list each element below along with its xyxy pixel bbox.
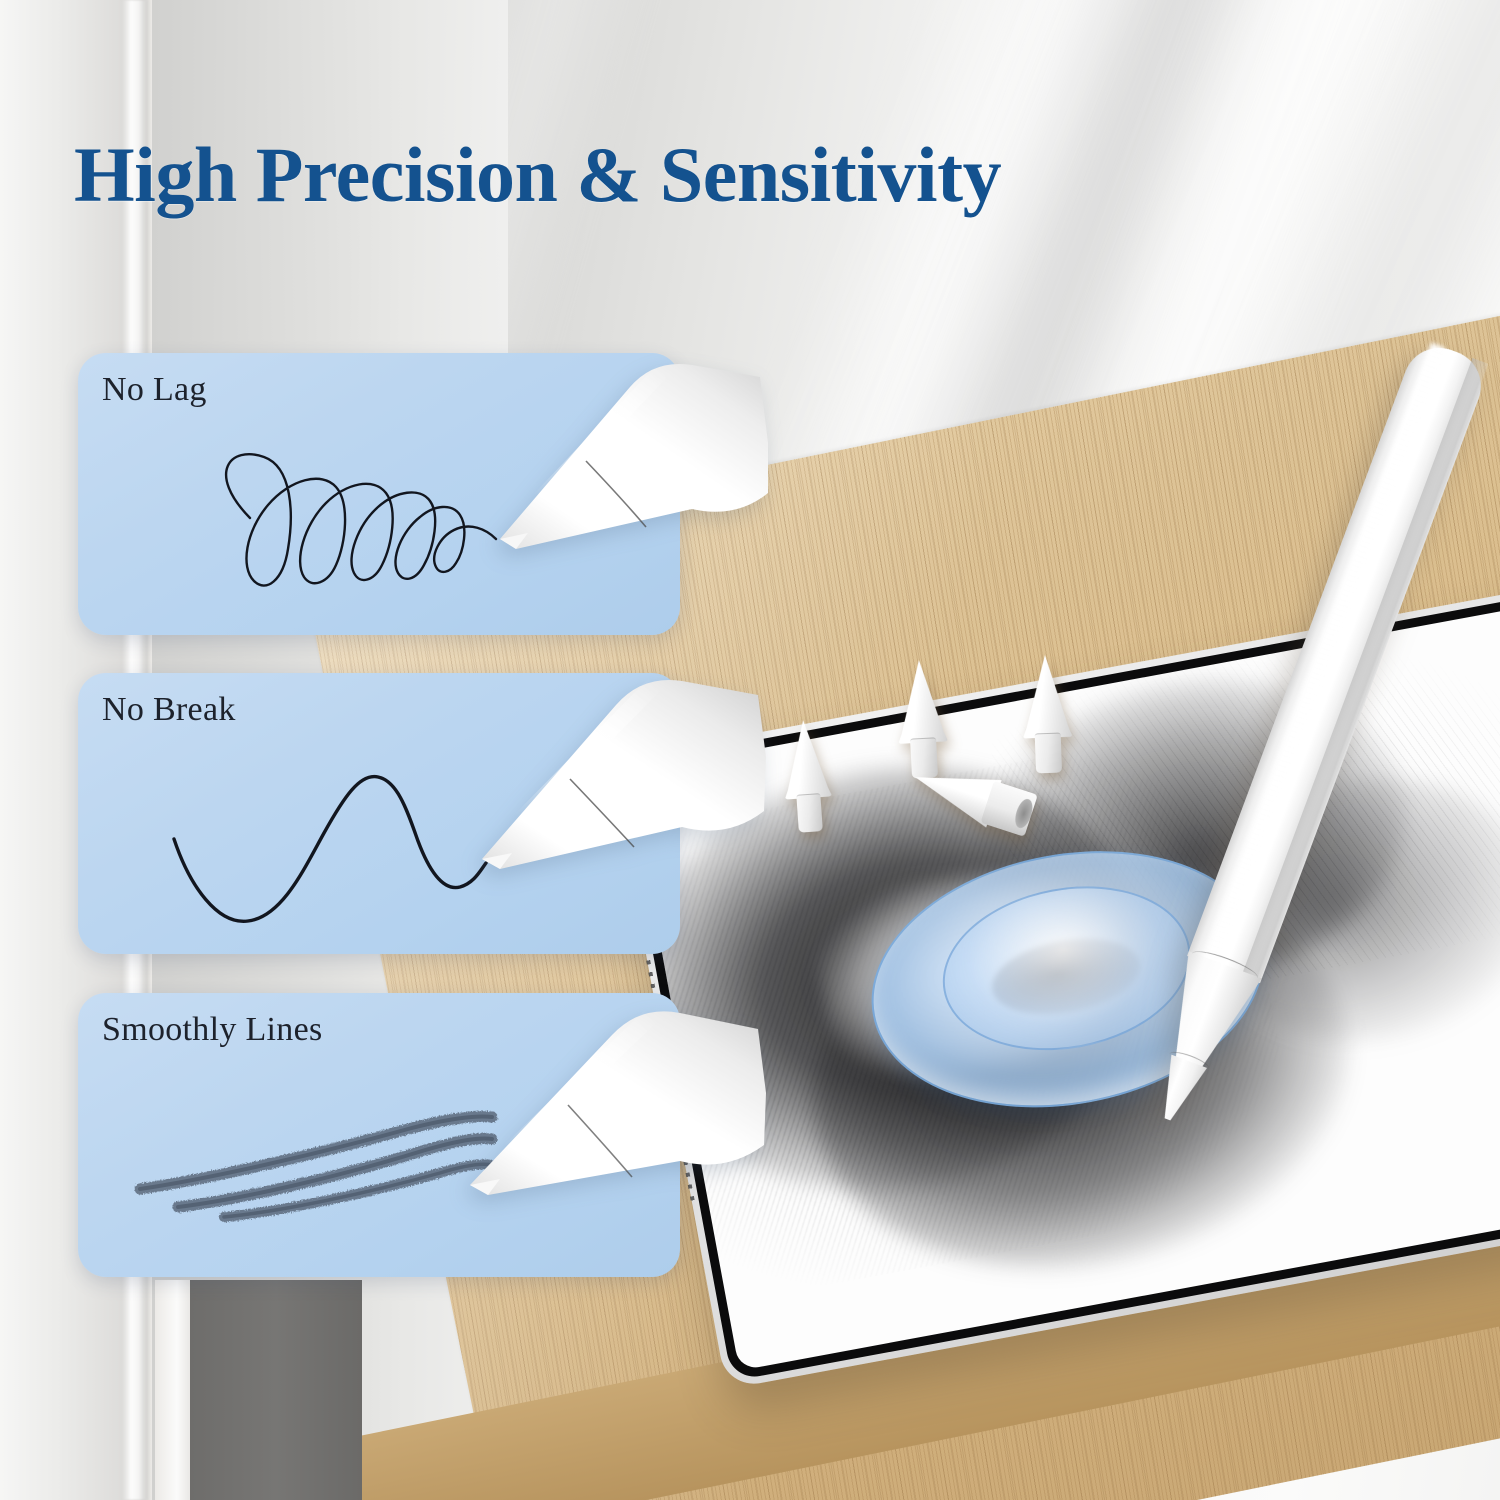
- spare-nib-1: [779, 718, 835, 833]
- card-label-no-break: No Break: [102, 691, 236, 729]
- feature-card-no-break[interactable]: No Break: [78, 673, 680, 954]
- card-label-no-lag: No Lag: [102, 371, 207, 409]
- feature-card-smoothly-lines[interactable]: Smoothly Lines: [78, 993, 680, 1277]
- grey-pillar: [190, 1280, 362, 1500]
- card-label-smoothly-lines: Smoothly Lines: [102, 1011, 323, 1049]
- stylus-tip-icon-3: [456, 999, 766, 1219]
- page-title: High Precision & Sensitivity: [74, 136, 1001, 214]
- stylus-tip-icon-2: [466, 661, 766, 881]
- wall-baseboard: [155, 1280, 195, 1500]
- feature-card-no-lag[interactable]: No Lag: [78, 353, 680, 635]
- stylus-tip-icon-1: [478, 351, 768, 561]
- spare-nib-3: [1020, 654, 1074, 774]
- product-feature-image: High Precision & Sensitivity No Lag: [0, 0, 1500, 1500]
